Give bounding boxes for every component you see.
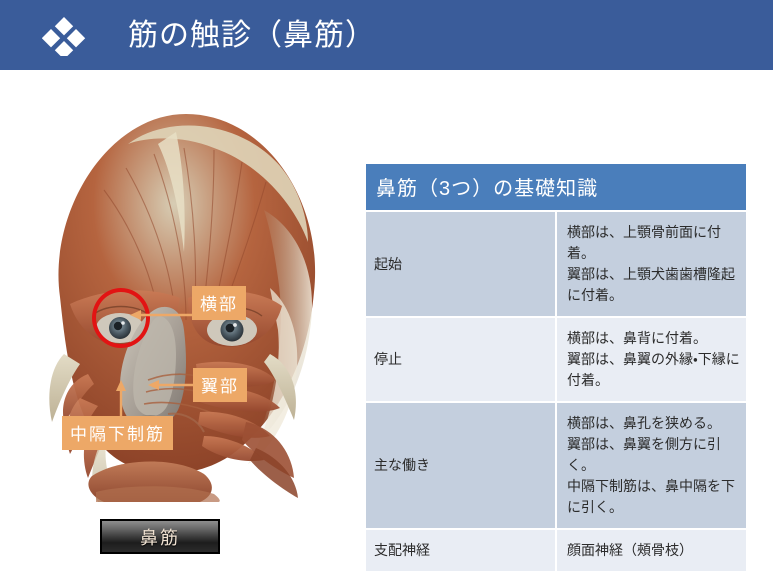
callout-label-yokubu: 翼部 [193,368,247,402]
page-title: 筋の触診（鼻筋） [128,10,376,62]
value-line: 翼部は、鼻翼の外縁・下縁に付着。 [567,349,740,391]
muscle-name-button-label: 鼻筋 [140,524,180,550]
muscle-name-button[interactable]: 鼻筋 [100,519,220,554]
slide-header-bar: 筋の触診（鼻筋） [0,0,773,70]
value-line: 横部は、上顎骨前面に付着。 [567,222,740,264]
table-row-label: 起始 [365,211,556,317]
table-row-label: 停止 [365,317,556,402]
callout-arrow-chukaku [110,378,132,420]
callout-arrow-yokobu [128,304,198,326]
basic-knowledge-table: 鼻筋（3つ）の基礎知識 起始 横部は、上顎骨前面に付着。 翼部は、上顎犬歯歯槽隆… [364,162,748,573]
callout-label-chukaku: 中隔下制筋 [62,416,173,450]
value-line: 横部は、鼻背に付着。 [567,328,740,349]
value-line: 顔面神経（頰骨枝） [567,540,740,561]
table-row-label: 支配神経 [365,529,556,572]
table-row-value: 横部は、鼻孔を狭める。 翼部は、鼻翼を側方に引く。 中隔下制筋は、鼻中隔を下に引… [556,402,747,529]
table-row-label: 主な働き [365,402,556,529]
table-row-value: 横部は、鼻背に付着。 翼部は、鼻翼の外縁・下縁に付着。 [556,317,747,402]
table-row: 起始 横部は、上顎骨前面に付着。 翼部は、上顎犬歯歯槽隆起に付着。 [365,211,747,317]
value-line: 翼部は、上顎犬歯歯槽隆起に付着。 [567,264,740,306]
callout-label-yokobu: 横部 [192,286,246,320]
table-row-value: 横部は、上顎骨前面に付着。 翼部は、上顎犬歯歯槽隆起に付着。 [556,211,747,317]
callout-arrow-yokubu [146,374,196,396]
table-row: 支配神経 顔面神経（頰骨枝） [365,529,747,572]
table-row-value: 顔面神経（頰骨枝） [556,529,747,572]
facial-muscle-anatomy-illustration [8,92,353,502]
diamond-cluster-icon [42,16,86,56]
table-row: 停止 横部は、鼻背に付着。 翼部は、鼻翼の外縁・下縁に付着。 [365,317,747,402]
table-title: 鼻筋（3つ）の基礎知識 [365,163,747,211]
value-line: 翼部は、鼻翼を側方に引く。 [567,434,740,476]
table-title-row: 鼻筋（3つ）の基礎知識 [365,163,747,211]
table-row: 主な働き 横部は、鼻孔を狭める。 翼部は、鼻翼を側方に引く。 中隔下制筋は、鼻中… [365,402,747,529]
value-line: 中隔下制筋は、鼻中隔を下に引く。 [567,476,740,518]
value-line: 横部は、鼻孔を狭める。 [567,413,740,434]
